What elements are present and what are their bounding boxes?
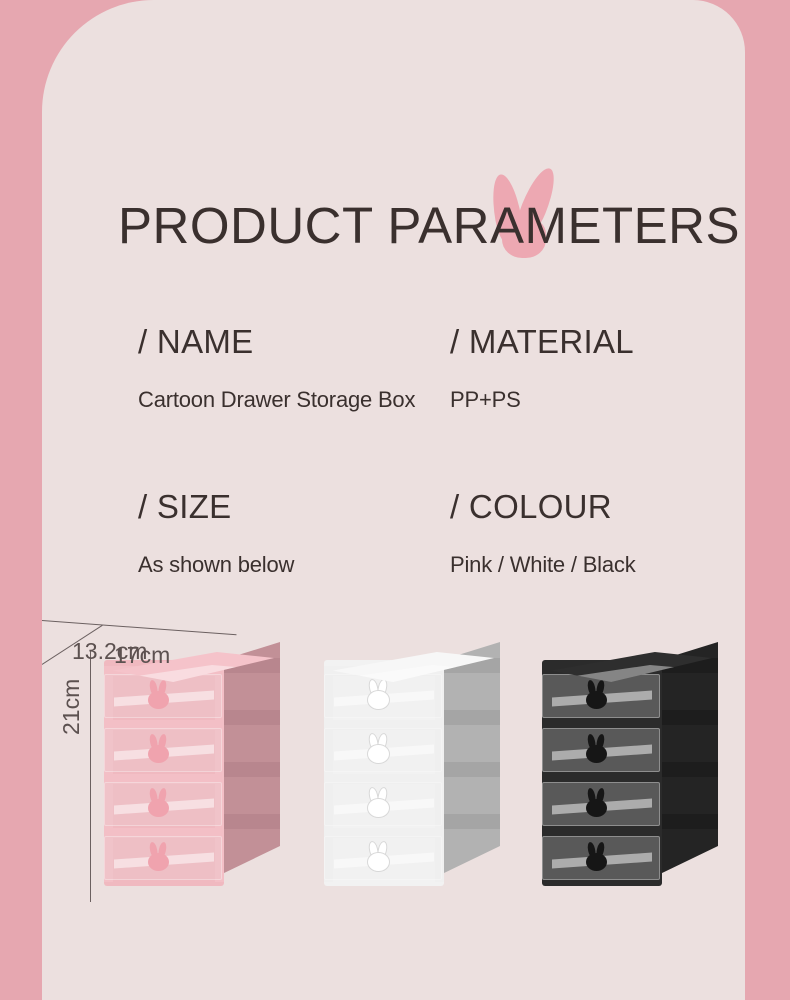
knob-head [368,799,389,817]
depth-dimension-label: 17cm [114,642,170,669]
bunny-knob-icon [584,842,610,872]
spec-label-name: / NAME [138,322,415,362]
unit-side-panel [442,642,500,874]
bunny-knob-icon [146,734,172,764]
pink-drawer-unit [104,642,282,887]
side-rail [222,762,280,777]
page-title: PRODUCT PARAMETERS [118,198,740,254]
bunny-knob-icon [584,788,610,818]
height-dimension-line [90,650,91,902]
bunny-knob-icon [366,680,392,710]
black-drawer-unit [542,642,720,887]
bunny-knob-icon [366,842,392,872]
knob-head [148,853,169,871]
side-rail [660,710,718,725]
drawer-3 [542,774,662,828]
drawer-4 [324,828,444,882]
spec-cell-size: / SIZE As shown below [138,487,294,579]
bunny-knob-icon [366,788,392,818]
bunny-knob-icon [146,680,172,710]
drawer-4 [104,828,224,882]
knob-head [148,799,169,817]
knob-head [586,745,607,763]
knob-head [586,853,607,871]
side-rail [442,762,500,777]
white-drawer-unit [324,642,502,887]
spec-value-size: As shown below [138,527,294,579]
knob-head [148,745,169,763]
spec-grid: / NAME Cartoon Drawer Storage Box / MATE… [138,322,698,652]
knob-head [586,691,607,709]
side-rail [442,710,500,725]
side-rail [660,814,718,829]
unit-side-panel [660,642,718,874]
page-header: PRODUCT PARAMETERS [118,160,718,270]
side-rail [660,762,718,777]
knob-head [586,799,607,817]
side-rail [442,814,500,829]
width-dimension: 13.2cm [42,620,257,640]
spec-value-material: PP+PS [450,362,634,414]
spec-value-colour: Pink / White / Black [450,527,636,579]
side-rail [222,710,280,725]
spec-row-name-material: / NAME Cartoon Drawer Storage Box / MATE… [138,322,698,487]
bunny-knob-icon [146,842,172,872]
unit-body [542,660,662,886]
drawer-4 [542,828,662,882]
spec-cell-colour: / COLOUR Pink / White / Black [450,487,636,579]
spec-label-material: / MATERIAL [450,322,634,362]
spec-label-size: / SIZE [138,487,294,527]
height-dimension-label: 21cm [58,679,85,735]
knob-head [368,853,389,871]
drawer-2 [104,720,224,774]
bunny-knob-icon [584,680,610,710]
bunny-knob-icon [584,734,610,764]
drawer-3 [104,774,224,828]
unit-side-panel [222,642,280,874]
content-panel: PRODUCT PARAMETERS / NAME Cartoon Drawer… [42,0,745,1000]
spec-value-name: Cartoon Drawer Storage Box [138,362,415,414]
drawer-2 [324,720,444,774]
side-rail [222,814,280,829]
knob-head [368,691,389,709]
spec-label-colour: / COLOUR [450,487,636,527]
unit-body [324,660,444,886]
bunny-knob-icon [146,788,172,818]
bunny-knob-icon [366,734,392,764]
knob-head [148,691,169,709]
drawer-2 [542,720,662,774]
knob-head [368,745,389,763]
product-image-area: 21cm [42,620,745,1000]
product-parameters-page: PRODUCT PARAMETERS / NAME Cartoon Drawer… [0,0,790,1000]
spec-cell-material: / MATERIAL PP+PS [450,322,634,414]
unit-body [104,660,224,886]
spec-cell-name: / NAME Cartoon Drawer Storage Box [138,322,415,414]
width-dimension-line [42,620,237,635]
drawer-3 [324,774,444,828]
